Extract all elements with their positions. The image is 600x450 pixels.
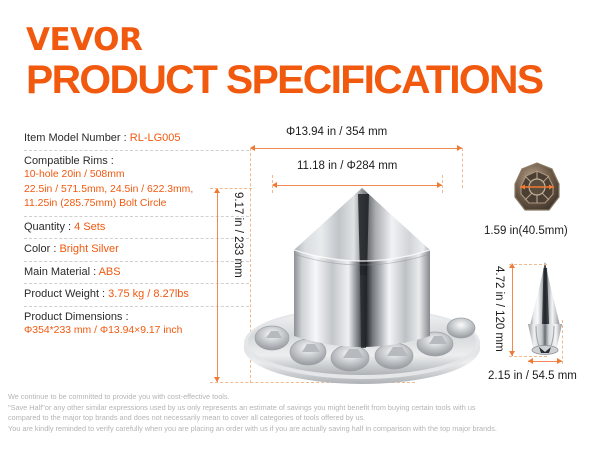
disclaimer-block: We continue to be committed to provide y… bbox=[8, 392, 596, 434]
spec-label: Product Dimensions : bbox=[24, 311, 129, 323]
dim-lugnut-height-line bbox=[512, 264, 513, 356]
hub-cover-illustration bbox=[242, 180, 482, 390]
spec-row-color: Color : Bright Silver bbox=[24, 239, 249, 262]
disclaimer-line: compared to the major top brands and doe… bbox=[8, 413, 596, 424]
spec-row-model-number: Item Model Number : RL-LG005 bbox=[24, 128, 249, 151]
spec-value: 4 Sets bbox=[74, 221, 105, 233]
spec-detail-line: Φ354*233 mm / Φ13.94×9.17 inch bbox=[24, 324, 249, 339]
spec-label: Main Material : bbox=[24, 266, 99, 278]
spec-line: Quantity : 4 Sets bbox=[24, 220, 249, 235]
dim-lugnut-top-diameter-label: 1.59 in(40.5mm) bbox=[484, 225, 568, 237]
spec-detail-line: 11.25in (285.75mm) Bolt Circle bbox=[24, 197, 249, 212]
disclaimer-line: "Save Half"or any other similar expressi… bbox=[8, 403, 596, 414]
dim-outer-diameter-label: Φ13.94 in / 354 mm bbox=[286, 126, 387, 138]
lugnut-top-view-illustration bbox=[508, 160, 566, 218]
spec-row-product-weight: Product Weight : 3.75 kg / 8.27lbs bbox=[24, 284, 249, 307]
spec-value: RL-LG005 bbox=[130, 132, 181, 144]
guide-line bbox=[509, 356, 547, 357]
arrow-left-icon bbox=[528, 358, 533, 364]
spec-line: Main Material : ABS bbox=[24, 265, 249, 280]
guide-line bbox=[562, 320, 563, 364]
spec-label: Quantity : bbox=[24, 221, 74, 233]
spec-line: Compatible Rims : bbox=[24, 154, 249, 169]
spec-label: Product Weight : bbox=[24, 288, 108, 300]
spec-value: Bright Silver bbox=[59, 243, 118, 255]
spec-line: Product Dimensions : bbox=[24, 310, 249, 325]
spec-value: 3.75 kg / 8.27lbs bbox=[108, 288, 189, 300]
spec-value: ABS bbox=[99, 266, 121, 278]
dim-inner-diameter-label: 11.18 in / Φ284 mm bbox=[297, 160, 397, 172]
spec-row-quantity: Quantity : 4 Sets bbox=[24, 217, 249, 240]
spec-label: Item Model Number : bbox=[24, 132, 130, 144]
dim-lugnut-height-label: 4.72 in / 120 mm bbox=[493, 266, 505, 352]
disclaimer-line: We continue to be committed to provide y… bbox=[8, 392, 596, 403]
spec-line: Product Weight : 3.75 kg / 8.27lbs bbox=[24, 287, 249, 302]
guide-line bbox=[509, 264, 547, 265]
spec-line: Color : Bright Silver bbox=[24, 242, 249, 257]
page-title: PRODUCT SPECIFICATIONS bbox=[26, 60, 542, 100]
disclaimer-line: You are kindly reminded to verify carefu… bbox=[8, 424, 596, 435]
spec-line: Item Model Number : RL-LG005 bbox=[24, 131, 249, 146]
dim-outer-diameter-line bbox=[250, 148, 462, 149]
product-figure-area: Φ13.94 in / 354 mm 11.18 in / Φ284 mm 9.… bbox=[250, 120, 600, 385]
dim-height-line bbox=[217, 188, 218, 382]
spec-label: Compatible Rims : bbox=[24, 155, 114, 167]
spec-row-main-material: Main Material : ABS bbox=[24, 262, 249, 285]
spec-row-compatible-rims: Compatible Rims : 10-hole 20in / 508mm 2… bbox=[24, 151, 249, 217]
specifications-list: Item Model Number : RL-LG005 Compatible … bbox=[24, 128, 249, 343]
spec-row-product-dimensions: Product Dimensions : Φ354*233 mm / Φ13.9… bbox=[24, 307, 249, 343]
spec-detail-line: 10-hole 20in / 508mm bbox=[24, 168, 249, 183]
dim-lugnut-width-label: 2.15 in / 54.5 mm bbox=[488, 370, 577, 382]
vevor-brand-logo: VEVOR bbox=[26, 22, 142, 58]
spec-label: Color : bbox=[24, 243, 59, 255]
